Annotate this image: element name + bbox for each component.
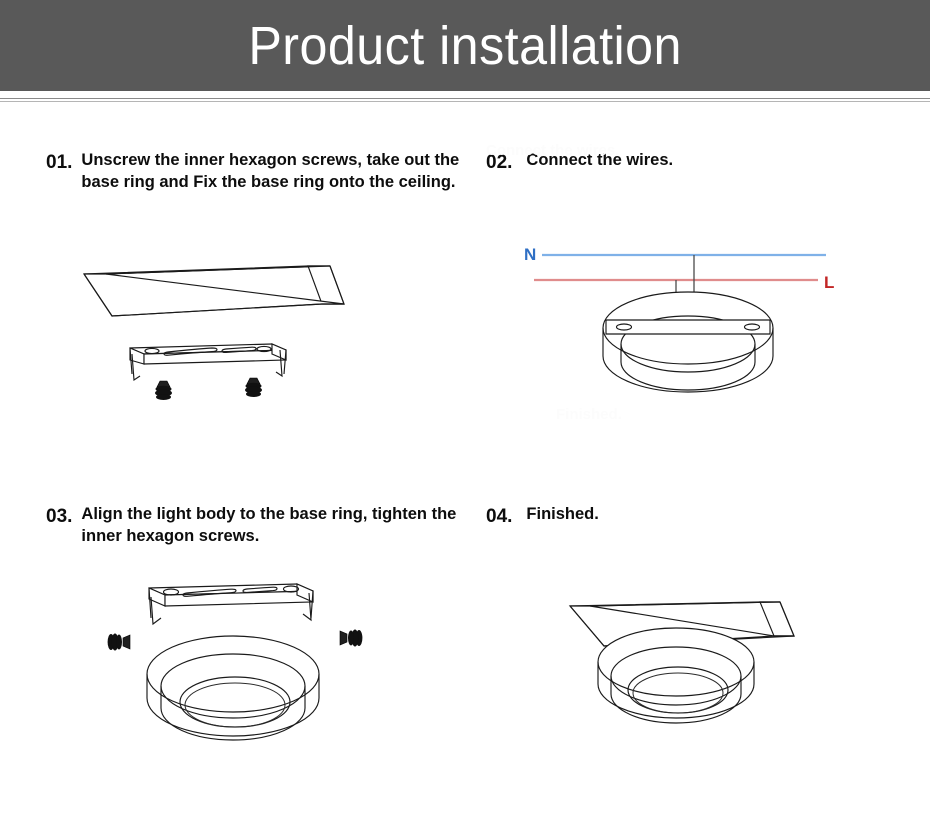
wire-label-n: N <box>524 245 536 264</box>
step-01: 01. Unscrew the inner hexagon screws, ta… <box>46 150 476 194</box>
steps-grid: 01. Unscrew the inner hexagon screws, ta… <box>0 104 930 825</box>
step-03-text: Align the light body to the base ring, t… <box>81 504 476 548</box>
step-02-heading: 02. Connect the wires. <box>486 150 916 175</box>
step-01-number: 01. <box>46 150 72 175</box>
step-04-heading: 04. Finished. <box>486 504 916 529</box>
step-04-figure <box>548 584 848 754</box>
screw-icon-left <box>155 381 172 400</box>
step-01-heading: 01. Unscrew the inner hexagon screws, ta… <box>46 150 476 194</box>
step-04: 04. Finished. <box>486 504 916 529</box>
page-header: Product installation <box>0 0 930 91</box>
divider-line-bottom <box>0 101 930 102</box>
step-03: 03. Align the light body to the base rin… <box>46 504 476 548</box>
wiring-diagram: N L <box>506 228 876 408</box>
ceiling-panel-bracket-diagram <box>76 250 376 410</box>
step-02-text: Connect the wires. <box>526 150 673 172</box>
step-04-number: 04. <box>486 504 512 529</box>
finished-assembly-diagram <box>548 584 848 754</box>
page-title: Product installation <box>248 19 682 73</box>
wire-label-l: L <box>824 273 834 292</box>
screw-icon-right-side <box>340 630 362 647</box>
screw-icon-right <box>245 378 262 397</box>
step-02-number: 02. <box>486 150 512 175</box>
step-03-number: 03. <box>46 504 72 529</box>
screw-icon-left-side <box>108 634 130 651</box>
step-03-figure <box>101 566 391 756</box>
step-02-figure: N L <box>506 228 876 408</box>
step-02: 02. Connect the wires. N L <box>486 150 916 175</box>
divider-line-top <box>0 98 930 99</box>
step-03-heading: 03. Align the light body to the base rin… <box>46 504 476 548</box>
step-01-text: Unscrew the inner hexagon screws, take o… <box>81 150 476 194</box>
step-04-text: Finished. <box>526 504 598 526</box>
step-01-figure <box>76 250 376 410</box>
align-light-body-diagram <box>101 566 391 756</box>
